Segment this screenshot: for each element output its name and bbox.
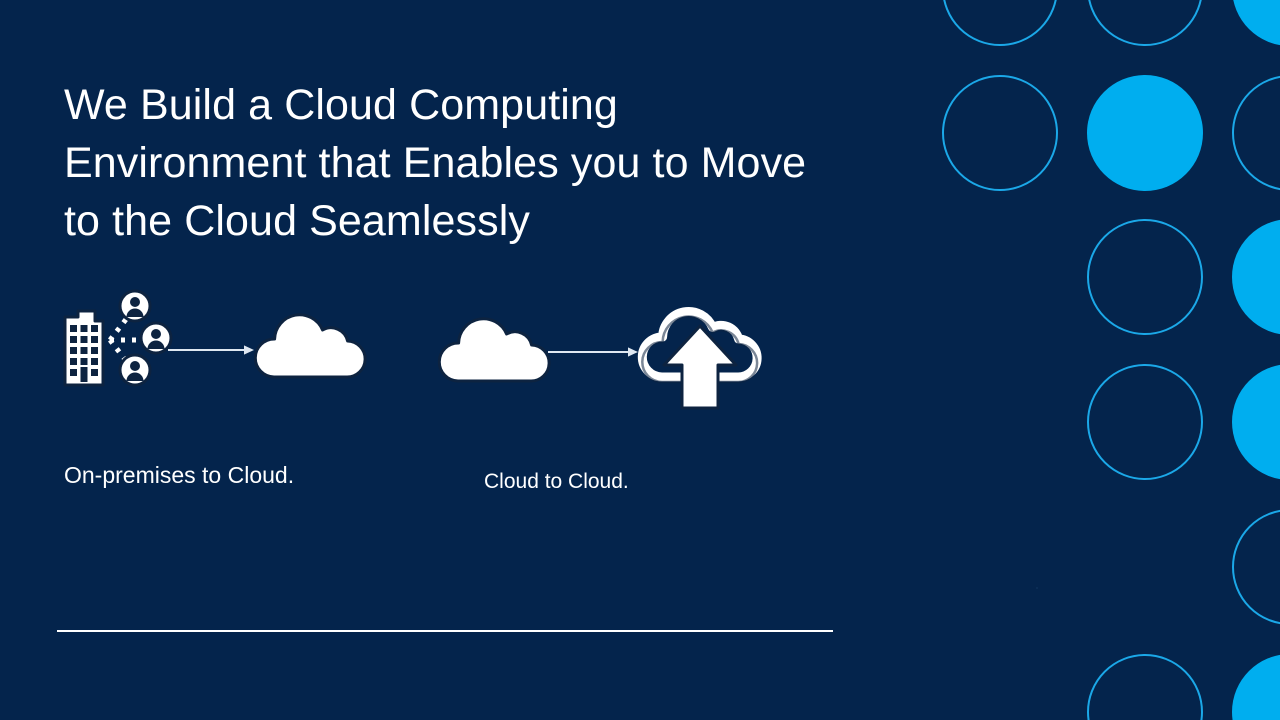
deco-circle-outline (1232, 509, 1280, 625)
deco-circle-filled (1232, 654, 1280, 720)
migration-diagram (0, 285, 900, 425)
horizontal-divider (57, 630, 833, 632)
deco-circle-outline (1087, 654, 1203, 720)
user-avatar-icon (118, 353, 152, 387)
deco-circle-outline (1232, 75, 1280, 191)
slide-canvas: We Build a Cloud Computing Environment t… (0, 0, 1280, 720)
page-title: We Build a Cloud Computing Environment t… (64, 76, 824, 250)
deco-circle-filled (1232, 0, 1280, 46)
deco-circle-outline (1087, 0, 1203, 46)
cloud-icon (430, 313, 560, 385)
speck-artifact (1036, 587, 1038, 589)
caption-on-premises-to-cloud: On-premises to Cloud. (64, 462, 294, 489)
circle-grid-pattern (920, 0, 1280, 720)
deco-circle-filled (1232, 364, 1280, 480)
deco-circle-filled (1232, 219, 1280, 335)
cloud-upload-icon (632, 299, 768, 411)
caption-cloud-to-cloud: Cloud to Cloud. (484, 470, 629, 494)
user-avatar-icon (118, 289, 152, 323)
cloud-icon (246, 309, 376, 381)
deco-circle-filled (1087, 75, 1203, 191)
deco-circle-outline (942, 75, 1058, 191)
deco-circle-outline (1087, 364, 1203, 480)
deco-circle-outline (1087, 219, 1203, 335)
arrow-right-icon (548, 345, 638, 359)
deco-circle-outline (942, 0, 1058, 46)
arrow-right-icon (168, 343, 254, 357)
